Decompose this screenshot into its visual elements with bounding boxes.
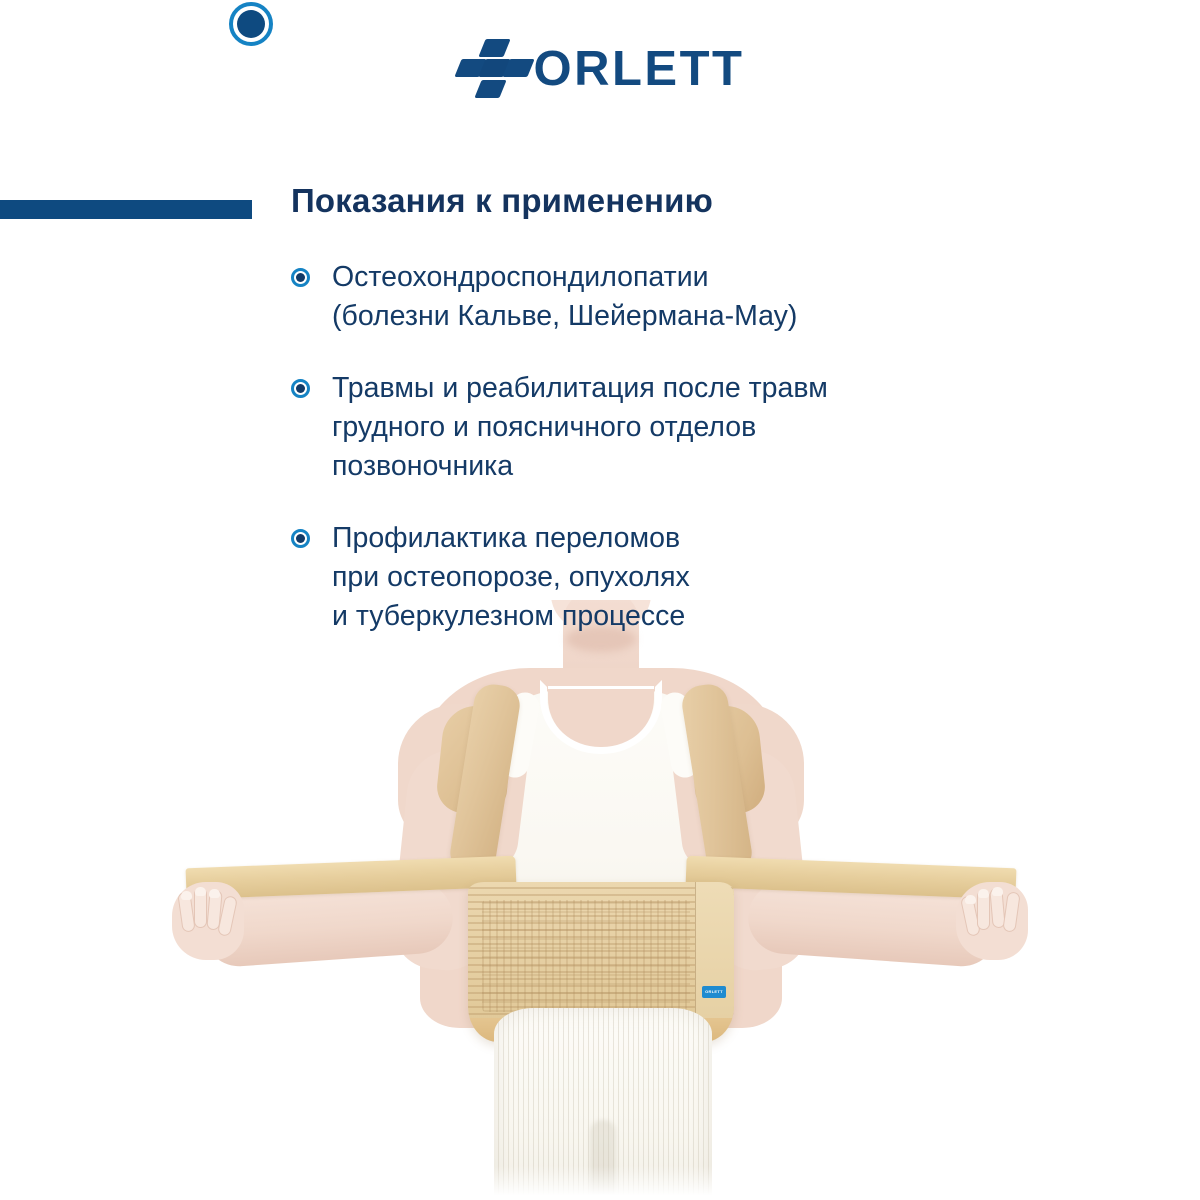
brand-wordmark: ORLETT	[534, 45, 745, 94]
list-item: Профилактика переломов при остеопорозе, …	[291, 519, 991, 636]
ring-dot-bullet-icon	[291, 529, 310, 548]
product-photo-stage: ORLETT	[0, 600, 1200, 1200]
product-infographic-page: ORLETT Показания к применению Остеохондр…	[0, 0, 1200, 1200]
list-item: Остеохондроспондилопатии (болезни Кальве…	[291, 258, 991, 336]
list-item: Травмы и реабилитация после травм грудно…	[291, 369, 991, 486]
orlett-cross-mark-icon	[456, 38, 520, 100]
indications-list: Остеохондроспондилопатии (болезни Кальве…	[291, 258, 991, 669]
orlett-brand-tag-label: ORLETT	[705, 990, 723, 994]
ring-dot-bullet-icon	[291, 268, 310, 287]
ring-dot-bullet-icon	[291, 379, 310, 398]
heading-bar	[0, 200, 252, 219]
brand-logo: ORLETT	[0, 38, 1200, 100]
orlett-brand-tag: ORLETT	[702, 986, 726, 998]
list-item-label: Профилактика переломов при остеопорозе, …	[332, 519, 690, 636]
list-item-label: Остеохондроспондилопатии (болезни Кальве…	[332, 258, 797, 336]
list-item-label: Травмы и реабилитация после травм грудно…	[332, 369, 828, 486]
corset-mesh-panel	[482, 900, 690, 1012]
page-title: Показания к применению	[291, 178, 713, 224]
target-marker-icon	[229, 2, 273, 46]
product-photo: ORLETT	[0, 600, 1200, 1200]
model-hand-right	[956, 882, 1028, 960]
model-hand-left	[172, 882, 244, 960]
section-heading: Показания к применению	[0, 178, 1200, 234]
bottom-fade	[0, 1166, 1200, 1200]
